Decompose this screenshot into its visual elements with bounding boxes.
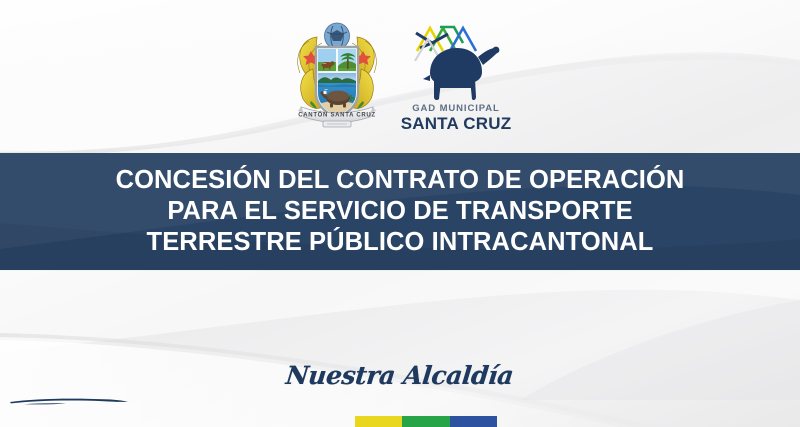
slogan-brush-underline-icon [8,396,130,405]
title-banner: CONCESIÓN DEL CONTRATO DE OPERACIÓN PARA… [0,153,800,270]
color-bar-yellow-segment [355,416,402,427]
title-line-3: TERRESTRE PÚBLICO INTRACANTONAL [147,227,654,258]
slogan-block: Nuestra Alcaldía [0,352,800,398]
santa-cruz-coat-of-arms-icon: CANTÓN SANTA CRUZ [289,21,385,133]
crest-banner-text: CANTÓN SANTA CRUZ [298,110,376,118]
title-line-2: PARA EL SERVICIO DE TRANSPORTE [167,196,632,227]
gad-logo-line2: SANTA CRUZ [401,115,512,132]
gad-municipal-logo: GAD MUNICIPAL SANTA CRUZ [401,21,512,132]
gad-logo-line1: GAD MUNICIPAL [401,104,512,114]
footer-color-bar [355,416,497,427]
poster-canvas: CANTÓN SANTA CRUZ [0,0,800,427]
galapagos-tortoise-logo-icon [410,21,502,103]
title-line-1: CONCESIÓN DEL CONTRATO DE OPERACIÓN [116,165,685,196]
color-bar-blue-segment [450,416,497,427]
slogan-text: Nuestra Alcaldía [285,361,515,390]
logo-band: CANTÓN SANTA CRUZ [0,0,800,153]
color-bar-green-segment [402,416,449,427]
